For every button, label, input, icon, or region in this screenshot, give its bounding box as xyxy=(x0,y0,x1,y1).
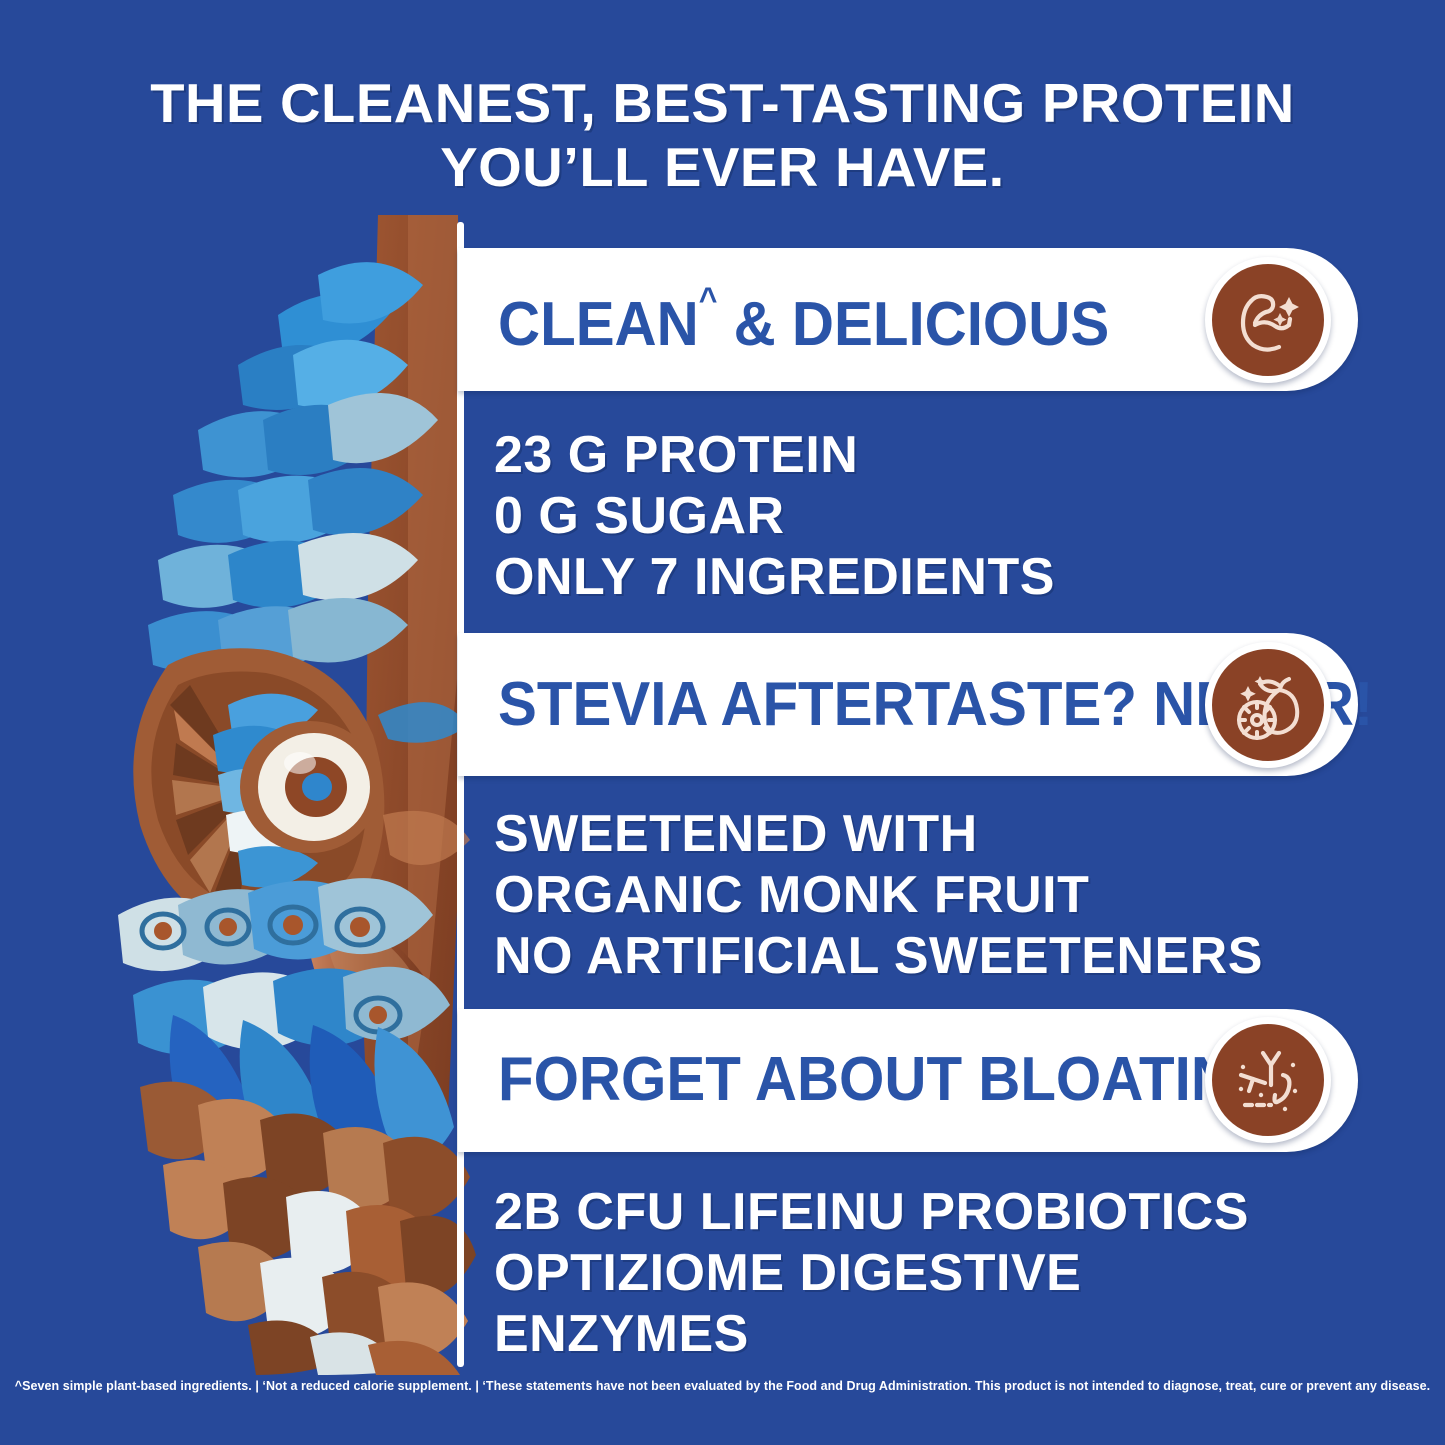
sweetener-line-1: SWEETENED WITH xyxy=(494,804,1358,865)
headline-line-2: YOU’LL EVER HAVE. xyxy=(0,136,1445,200)
page-title: THE CLEANEST, BEST-TASTING PROTEIN YOU’L… xyxy=(0,72,1445,200)
stat-line-sugar: 0 G SUGAR xyxy=(494,486,1358,547)
feature-block-sweetener: SWEETENED WITH ORGANIC MONK FRUIT NO ART… xyxy=(458,776,1358,1008)
feature-bar-clean-delicious: CLEAN^ & DELICIOUS xyxy=(458,248,1358,391)
stat-line-protein: 23 G PROTEIN xyxy=(494,425,1358,486)
legal-footnote: ^Seven simple plant-based ingredients. |… xyxy=(0,1379,1445,1393)
feature-block-protein-stats: 23 G PROTEIN 0 G SUGAR ONLY 7 INGREDIENT… xyxy=(458,391,1358,633)
probiotics-line-3: ENZYMES xyxy=(494,1304,1358,1365)
bar-title-forget-bloating: FORGET ABOUT BLOATING xyxy=(498,1049,1278,1111)
probiotic-bacteria-icon xyxy=(1205,1017,1331,1143)
footnote-marker: ^ xyxy=(699,281,718,319)
flexed-bicep-icon xyxy=(1205,257,1331,383)
promo-graphic: THE CLEANEST, BEST-TASTING PROTEIN YOU’L… xyxy=(0,0,1445,1445)
feature-list: CLEAN^ & DELICIOUS xyxy=(458,248,1358,1384)
feature-block-probiotics: 2B CFU LIFEINU PROBIOTICS OPTIZIOME DIGE… xyxy=(458,1152,1358,1384)
feature-bar-stevia-aftertaste: STEVIA AFTERTASTE? NEVER! xyxy=(458,633,1358,776)
headline-line-1: THE CLEANEST, BEST-TASTING PROTEIN xyxy=(0,72,1445,136)
bar-title-clean-delicious: CLEAN^ & DELICIOUS xyxy=(498,283,1109,356)
probiotics-line-1: 2B CFU LIFEINU PROBIOTICS xyxy=(494,1182,1358,1243)
stat-line-ingredients: ONLY 7 INGREDIENTS xyxy=(494,547,1358,608)
monk-fruit-icon xyxy=(1205,642,1331,768)
probiotics-line-2: OPTIZIOME DIGESTIVE xyxy=(494,1243,1358,1304)
owl-illustration xyxy=(78,215,478,1375)
feature-bar-forget-bloating: FORGET ABOUT BLOATING xyxy=(458,1009,1358,1152)
sweetener-line-2: ORGANIC MONK FRUIT xyxy=(494,865,1358,926)
sweetener-line-3: NO ARTIFICIAL SWEETENERS xyxy=(494,926,1358,987)
